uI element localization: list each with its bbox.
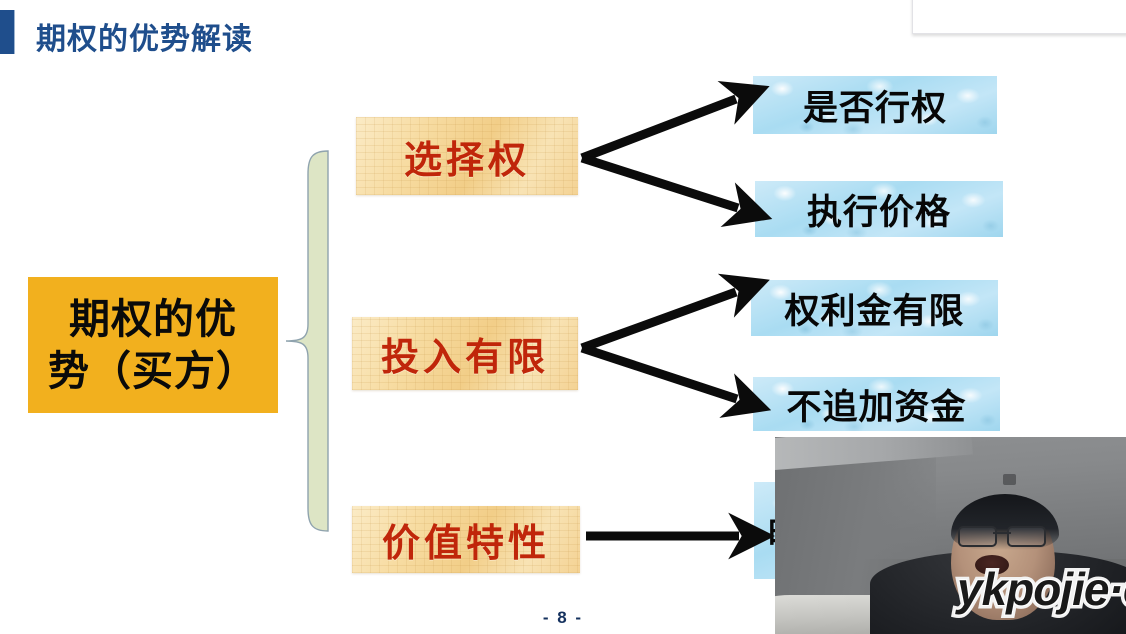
diagram-leaf-label-3: 权利金有限 [784, 283, 964, 334]
top-right-overlay-panel[interactable] [912, 0, 1126, 34]
diagram-branch-box-3[interactable]: 价值特性 [352, 506, 580, 573]
arrow-branch1-leaf1 [582, 99, 736, 158]
diagram-root-label: 期权的优 势（买方） [46, 293, 261, 398]
page-title: 期权的优势解读 [36, 14, 253, 58]
diagram-root-label-line1: 期权的优 [46, 293, 261, 345]
diagram-root-label-line2: 势（买方） [46, 345, 261, 397]
diagram-leaf-box-2[interactable]: 执行价格 [755, 181, 1003, 237]
glasses-right-lens [1007, 526, 1046, 547]
webcam-wall-mark [1003, 474, 1016, 485]
diagram-leaf-box-4[interactable]: 不追加资金 [753, 377, 1000, 431]
diagram-branch-box-2[interactable]: 投入有限 [352, 317, 578, 390]
diagram-leaf-box-3[interactable]: 权利金有限 [751, 280, 998, 336]
arrow-branch1-leaf2 [582, 158, 738, 208]
diagram-branch-label-3: 价值特性 [382, 512, 550, 567]
page-number: - 8 - [0, 608, 1126, 628]
diagram-branch-label-1: 选择权 [404, 129, 530, 184]
arrow-branch2-leaf4 [582, 348, 737, 399]
diagram-root-box[interactable]: 期权的优 势（买方） [28, 277, 278, 413]
diagram-leaf-box-1[interactable]: 是否行权 [753, 76, 997, 134]
slide-canvas: 期权的优势解读 期权的优 势（买方） 选择权 投入有限 价值特性 是否行权 执行… [0, 0, 1126, 634]
arrow-branch2-leaf3 [582, 292, 736, 348]
title-accent-bar [0, 10, 15, 54]
diagram-leaf-label-4: 不追加资金 [786, 379, 966, 430]
diagram-leaf-label-1: 是否行权 [803, 80, 947, 131]
glasses-bridge [993, 532, 1011, 534]
glasses-icon [958, 526, 1046, 543]
diagram-branch-label-2: 投入有限 [381, 326, 549, 381]
diagram-leaf-label-2: 执行价格 [807, 184, 951, 235]
glasses-left-lens [958, 526, 997, 547]
curly-brace-icon [282, 148, 332, 534]
diagram-branch-box-1[interactable]: 选择权 [356, 117, 578, 195]
webcam-video-overlay[interactable]: ykpojie·com [775, 437, 1126, 634]
